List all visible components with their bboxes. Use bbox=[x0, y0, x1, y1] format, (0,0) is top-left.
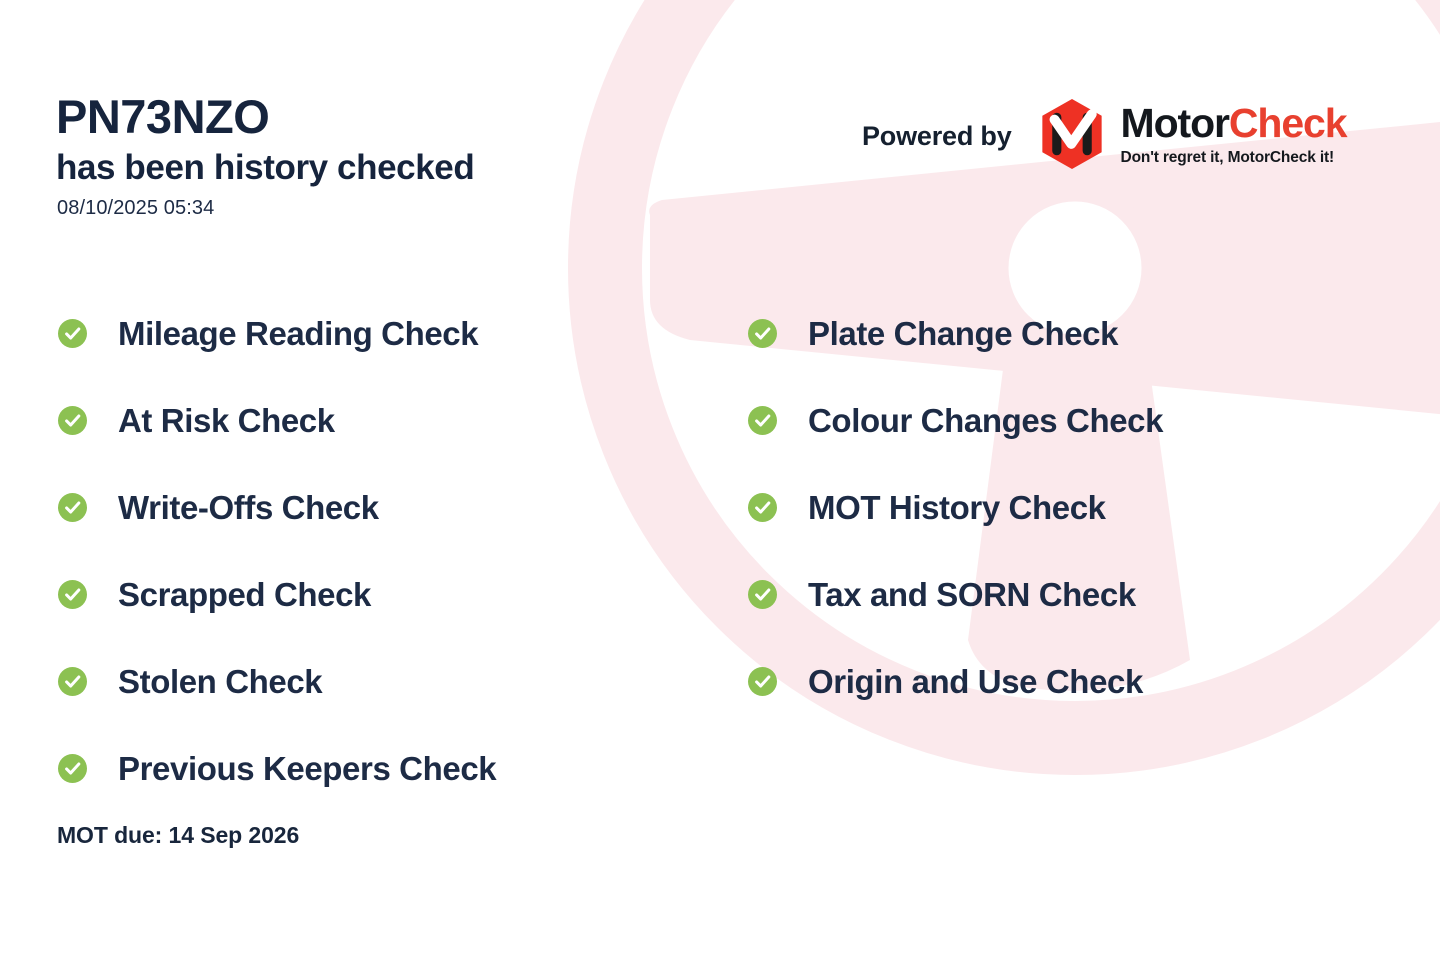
check-timestamp: 08/10/2025 05:34 bbox=[57, 197, 474, 220]
motorcheck-hex-logo-icon bbox=[1034, 96, 1110, 172]
check-circle-icon bbox=[748, 580, 777, 609]
registration-plate: PN73NZO bbox=[56, 92, 474, 143]
brand-tagline: Don't regret it, MotorCheck it! bbox=[1121, 149, 1347, 167]
check-circle-icon bbox=[748, 406, 777, 435]
check-circle-icon bbox=[748, 667, 777, 696]
check-item: Plate Change Check bbox=[748, 290, 1163, 377]
checks-left-column: Mileage Reading Check At Risk Check Writ… bbox=[58, 290, 496, 812]
check-item-label: At Risk Check bbox=[118, 402, 335, 440]
check-item: Previous Keepers Check bbox=[58, 725, 496, 812]
check-circle-icon bbox=[748, 493, 777, 522]
motorcheck-wordmark: MotorCheck bbox=[1121, 103, 1347, 144]
check-item: Origin and Use Check bbox=[748, 638, 1163, 725]
check-item: Colour Changes Check bbox=[748, 377, 1163, 464]
wordmark-check: Check bbox=[1229, 100, 1347, 146]
check-circle-icon bbox=[58, 319, 87, 348]
check-item: At Risk Check bbox=[58, 377, 496, 464]
powered-by-block: Powered by MotorCheck Don't regret it, M… bbox=[862, 100, 1346, 172]
check-item: MOT History Check bbox=[748, 464, 1163, 551]
history-check-header: PN73NZO has been history checked 08/10/2… bbox=[56, 92, 474, 220]
check-item-label: Mileage Reading Check bbox=[118, 315, 478, 353]
check-circle-icon bbox=[58, 754, 87, 783]
check-circle-icon bbox=[58, 667, 87, 696]
motorcheck-logo[interactable]: MotorCheck Don't regret it, MotorCheck i… bbox=[1034, 100, 1347, 172]
check-circle-icon bbox=[58, 580, 87, 609]
check-item: Tax and SORN Check bbox=[748, 551, 1163, 638]
check-item-label: Plate Change Check bbox=[808, 315, 1118, 353]
check-item-label: Tax and SORN Check bbox=[808, 576, 1136, 614]
wordmark-motor: Motor bbox=[1121, 100, 1229, 146]
check-item-label: Stolen Check bbox=[118, 663, 322, 701]
check-item-label: Origin and Use Check bbox=[808, 663, 1143, 701]
check-item-label: Previous Keepers Check bbox=[118, 750, 496, 788]
checks-right-column: Plate Change Check Colour Changes Check … bbox=[748, 290, 1163, 725]
check-item-label: MOT History Check bbox=[808, 489, 1106, 527]
powered-by-label: Powered by bbox=[862, 121, 1012, 152]
check-circle-icon bbox=[58, 406, 87, 435]
check-item: Scrapped Check bbox=[58, 551, 496, 638]
check-item-label: Write-Offs Check bbox=[118, 489, 379, 527]
check-circle-icon bbox=[58, 493, 87, 522]
mot-due-text: MOT due: 14 Sep 2026 bbox=[57, 822, 299, 849]
page-title: has been history checked bbox=[56, 147, 474, 188]
check-item: Stolen Check bbox=[58, 638, 496, 725]
check-item-label: Scrapped Check bbox=[118, 576, 371, 614]
check-circle-icon bbox=[748, 319, 777, 348]
check-item: Mileage Reading Check bbox=[58, 290, 496, 377]
check-item: Write-Offs Check bbox=[58, 464, 496, 551]
check-item-label: Colour Changes Check bbox=[808, 402, 1163, 440]
